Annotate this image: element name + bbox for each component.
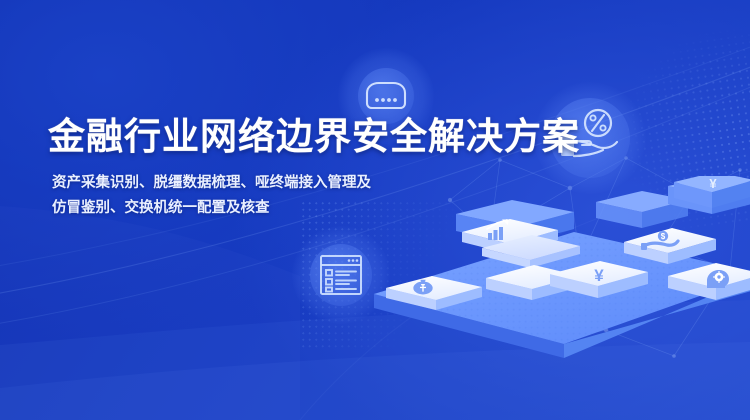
svg-text:¥: ¥ (594, 266, 604, 285)
page-subtitle: 资产采集识别、脱缰数据梳理、哑终端接入管理及 仿冒鉴别、交换机统一配置及核查 (52, 171, 580, 221)
svg-text:$: $ (661, 232, 666, 241)
page-title: 金融行业网络边界安全解决方案 (48, 118, 580, 155)
svg-text:¥: ¥ (709, 176, 717, 191)
banner-root: ¥ $ (0, 0, 750, 420)
title-block: 金融行业网络边界安全解决方案 资产采集识别、脱缰数据梳理、哑终端接入管理及 仿冒… (48, 118, 580, 221)
